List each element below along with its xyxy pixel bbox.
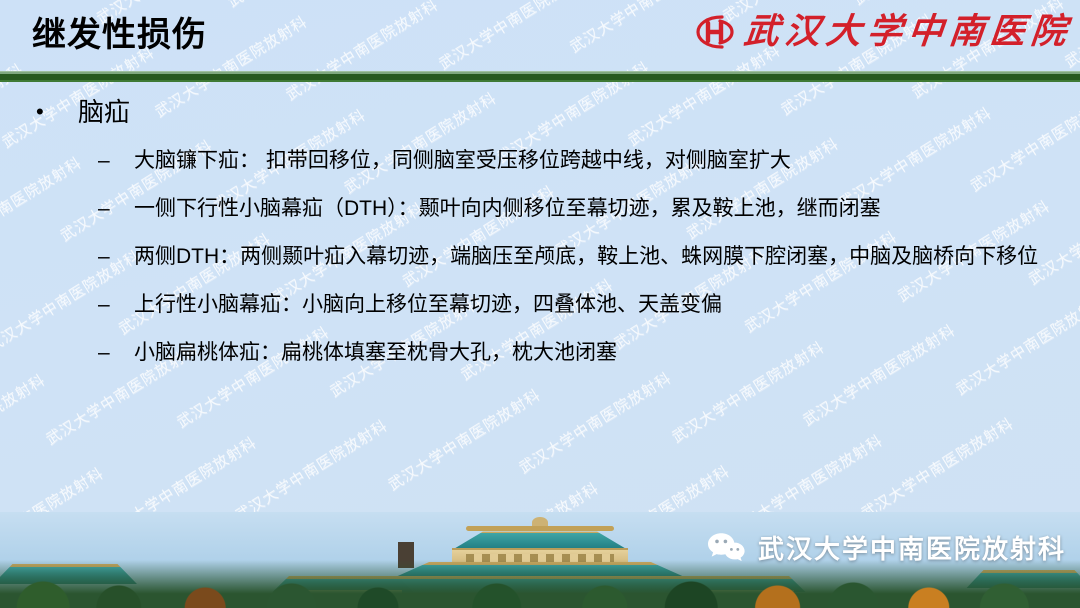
list-item: – 大脑镰下疝： 扣带回移位，同侧脑室受压移位跨越中线，对侧脑室扩大 bbox=[98, 140, 1050, 181]
bullet-marker-level2: – bbox=[98, 236, 134, 277]
list-item: – 两侧DTH：两侧颞叶疝入幕切迹，端脑压至颅底，鞍上池、蛛网膜下腔闭塞，中脑及… bbox=[98, 236, 1050, 277]
sub-bullet-text-1: 大脑镰下疝： 扣带回移位，同侧脑室受压移位跨越中线，对侧脑室扩大 bbox=[134, 140, 1050, 181]
watermark-text: 武汉大学中南医院放射科 bbox=[515, 366, 675, 477]
watermark-text: 武汉大学中南医院放射科 bbox=[231, 414, 391, 525]
bullet-marker-level2: – bbox=[98, 188, 134, 229]
hospital-name: 武汉大学中南医院 bbox=[742, 10, 1075, 54]
page-title: 继发性损伤 bbox=[32, 13, 207, 57]
slide-body: • 脑疝 – 大脑镰下疝： 扣带回移位，同侧脑室受压移位跨越中线，对侧脑室扩大 … bbox=[0, 92, 1080, 380]
bullet-marker-level1: • bbox=[36, 92, 78, 132]
watermark-text: 武汉大学中南医院放射科 bbox=[384, 383, 544, 494]
sub-bullet-text-3: 两侧DTH：两侧颞叶疝入幕切迹，端脑压至颅底，鞍上池、蛛网膜下腔闭塞，中脑及脑桥… bbox=[134, 236, 1050, 277]
bullet-marker-level2: – bbox=[98, 140, 134, 181]
list-item: – 一侧下行性小脑幕疝（DTH）：颞叶向内侧移位至幕切迹，累及鞍上池，继而闭塞 bbox=[98, 188, 1050, 229]
slide-root: 武汉大学中南医院放射科武汉大学中南医院放射科武汉大学中南医院放射科武汉大学中南医… bbox=[0, 0, 1080, 608]
rule-line-4 bbox=[0, 80, 1080, 82]
bullet-level1: • 脑疝 bbox=[36, 92, 1050, 132]
photo-roof-ridge bbox=[466, 526, 614, 531]
photo-roof-upper bbox=[430, 530, 650, 550]
wechat-credit: 武汉大学中南医院放射科 bbox=[706, 529, 1066, 566]
hospital-logo: 武汉大学中南医院 bbox=[692, 10, 1072, 54]
slide-header: 继发性损伤 武汉大学中南医院 bbox=[0, 0, 1080, 73]
header-divider-rule bbox=[0, 71, 1080, 82]
sub-bullet-text-4: 上行性小脑幕疝：小脑向上移位至幕切迹，四叠体池、天盖变偏 bbox=[134, 284, 1050, 325]
watermark-text: 武汉大学中南医院放射科 bbox=[0, 368, 49, 479]
list-item: – 上行性小脑幕疝：小脑向上移位至幕切迹，四叠体池、天盖变偏 bbox=[98, 284, 1050, 325]
bullet-marker-level2: – bbox=[98, 332, 134, 373]
wechat-icon bbox=[706, 531, 746, 565]
watermark-text: 武汉大学中南医院放射科 bbox=[857, 412, 1017, 523]
bullet-level1-label: 脑疝 bbox=[78, 92, 130, 132]
sub-bullet-text-2: 一侧下行性小脑幕疝（DTH）：颞叶向内侧移位至幕切迹，累及鞍上池，继而闭塞 bbox=[134, 188, 1050, 229]
wechat-account-name: 武汉大学中南医院放射科 bbox=[758, 529, 1066, 566]
list-item: – 小脑扁桃体疝：扁桃体填塞至枕骨大孔，枕大池闭塞 bbox=[98, 332, 1050, 373]
sub-bullet-list: – 大脑镰下疝： 扣带回移位，同侧脑室受压移位跨越中线，对侧脑室扩大 – 一侧下… bbox=[98, 140, 1050, 373]
sub-bullet-text-5: 小脑扁桃体疝：扁桃体填塞至枕骨大孔，枕大池闭塞 bbox=[134, 332, 1050, 373]
photo-treeline bbox=[0, 560, 1080, 608]
bullet-marker-level2: – bbox=[98, 284, 134, 325]
circled-h-emblem-icon bbox=[692, 10, 736, 54]
